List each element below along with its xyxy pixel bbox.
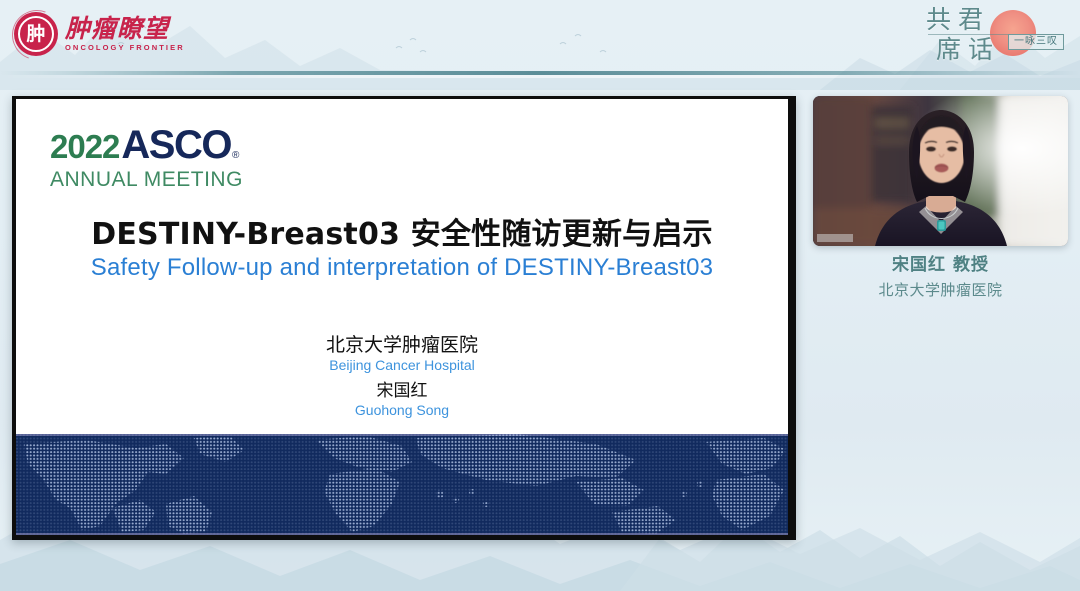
speaker-affiliation: 北京大学肿瘤医院: [813, 280, 1068, 300]
brand-badge: 一咏三叹: [1008, 34, 1064, 50]
slide-footer-band: [16, 434, 788, 535]
speaker-caption: 宋国红 教授 北京大学肿瘤医院: [813, 254, 1068, 300]
program-brand: 共君 席话 一咏三叹: [926, 4, 1066, 80]
logo-title-en: ONCOLOGY FRONTIER: [65, 44, 185, 52]
speaker-name: 宋国红 教授: [813, 254, 1068, 277]
logo-mark-icon: 肿: [14, 12, 58, 56]
slide-affiliation-block: 北京大学肿瘤医院 Beijing Cancer Hospital 宋国红 Guo…: [16, 334, 788, 419]
brand-line-1: 共君: [926, 6, 990, 33]
asco-meeting-label: ANNUAL MEETING: [50, 169, 243, 190]
affiliation-en: Beijing Cancer Hospital: [16, 357, 788, 374]
asco-wordmark: ASCO: [121, 125, 231, 165]
header-divider-highlight: [0, 75, 1080, 78]
presentation-slide-frame[interactable]: 2022 ASCO ® ANNUAL MEETING DESTINY-Breas…: [12, 96, 796, 540]
presentation-slide: 2022 ASCO ® ANNUAL MEETING DESTINY-Breas…: [16, 99, 788, 535]
presenter-cn: 宋国红: [16, 381, 788, 402]
brand-line-2: 席话: [936, 36, 1000, 63]
logo-mark-glyph: 肿: [14, 12, 58, 56]
asco-year: 2022: [50, 130, 119, 163]
video-frame-image: [813, 96, 1068, 246]
asco-registered-mark: ®: [232, 151, 239, 161]
slide-title: DESTINY-Breast03 安全性随访更新与启示: [16, 209, 788, 253]
logo-title-cn: 肿瘤瞭望: [65, 16, 185, 41]
slide-subtitle: Safety Follow-up and interpretation of D…: [16, 254, 788, 282]
affiliation-cn: 北京大学肿瘤医院: [16, 334, 788, 357]
world-map-dot-pattern: [16, 434, 788, 535]
speaker-video-feed[interactable]: [813, 96, 1068, 246]
asco-logo: 2022 ASCO ® ANNUAL MEETING: [50, 125, 243, 190]
screen: 肿 肿瘤瞭望 ONCOLOGY FRONTIER 共君 席话 一咏三叹 2022…: [0, 0, 1080, 591]
presenter-en: Guohong Song: [16, 402, 788, 419]
oncology-frontier-logo: 肿 肿瘤瞭望 ONCOLOGY FRONTIER: [14, 12, 185, 56]
